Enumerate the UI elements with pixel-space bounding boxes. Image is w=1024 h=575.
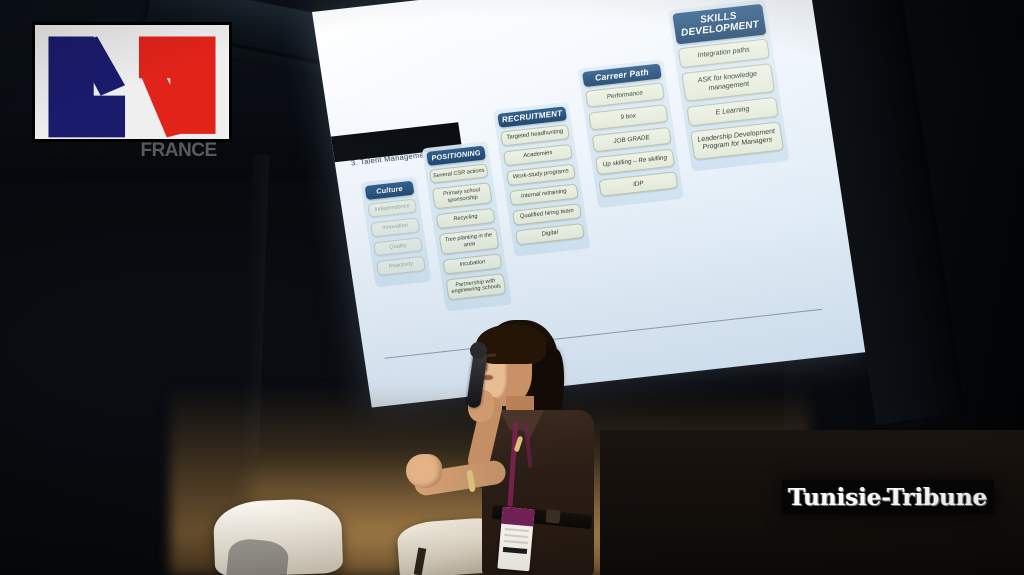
chip: JOB GRADE bbox=[592, 127, 672, 153]
chip: ASK for knowledge management bbox=[681, 63, 775, 101]
column-header-positioning: POSITIONING bbox=[426, 146, 486, 166]
chip: Partnership with engineering schools bbox=[445, 273, 506, 300]
chip: Innovation bbox=[370, 217, 420, 237]
speaker-hand-gesture bbox=[406, 454, 442, 488]
business-france-word-business: BUSINESS bbox=[47, 140, 140, 161]
column-culture: Culture Independence Innovation Quality … bbox=[360, 176, 432, 287]
chip: Primary school sponsorship bbox=[432, 182, 493, 209]
chip: Up skilling – Re skilling bbox=[595, 149, 675, 175]
chip: 9 box bbox=[588, 104, 668, 130]
badge-barcode bbox=[503, 547, 527, 554]
speaker bbox=[420, 318, 630, 575]
chip: Quality bbox=[373, 237, 423, 257]
arrow-pair-icon bbox=[45, 33, 219, 141]
business-france-wordmark: BUSINESSFRANCE bbox=[41, 141, 223, 162]
column-career-path: Carreer Path Performance 9 box JOB GRADE… bbox=[577, 59, 684, 208]
chip: Recycling bbox=[436, 208, 496, 229]
badge-text-line bbox=[504, 534, 528, 538]
badge-header-band bbox=[501, 507, 534, 527]
screenshot-stage: ACTIA 3. Talent Management Culture Indep… bbox=[0, 0, 1024, 575]
column-header-skills-development: SKILLS DEVELOPMENT bbox=[672, 4, 766, 45]
business-france-word-france: FRANCE bbox=[140, 140, 216, 161]
speaker-belt-buckle bbox=[545, 509, 560, 523]
column-skills-development: SKILLS DEVELOPMENT Integration paths ASK… bbox=[668, 0, 790, 171]
business-france-arrows bbox=[41, 31, 223, 141]
business-france-logo: BUSINESSFRANCE bbox=[32, 22, 232, 142]
chip: IDP bbox=[598, 171, 678, 197]
column-header-culture: Culture bbox=[365, 181, 415, 200]
badge-text-line bbox=[504, 540, 528, 544]
chip: Incubation bbox=[443, 253, 503, 274]
chip: Independence bbox=[367, 198, 417, 218]
chip: Tree planting in the area bbox=[439, 228, 500, 255]
column-positioning: POSITIONING Several CSR actions Primary … bbox=[422, 141, 512, 311]
chip: Digital bbox=[515, 223, 585, 245]
chip: Internal retraining bbox=[509, 184, 579, 206]
chip: Leadership Development Program for Manag… bbox=[690, 121, 784, 159]
chip: Work-study programs bbox=[506, 164, 576, 186]
badge-text-line bbox=[505, 528, 529, 532]
chip: Academies bbox=[503, 144, 573, 166]
chip: Qualified hiring team bbox=[512, 203, 582, 225]
tunisie-tribune-text: Tunisie-Tribune bbox=[788, 484, 987, 511]
microphone-head bbox=[470, 342, 487, 359]
chip: Reactivity bbox=[376, 256, 426, 276]
conference-badge bbox=[497, 507, 534, 572]
chip: Several CSR actions bbox=[429, 163, 489, 184]
tunisie-tribune-watermark: Tunisie-Tribune bbox=[782, 480, 994, 514]
chip: Targeted headhunting bbox=[500, 124, 570, 146]
column-recruitment: RECRUITMENT Targeted headhunting Academi… bbox=[493, 102, 591, 257]
chip: Performance bbox=[585, 82, 665, 108]
